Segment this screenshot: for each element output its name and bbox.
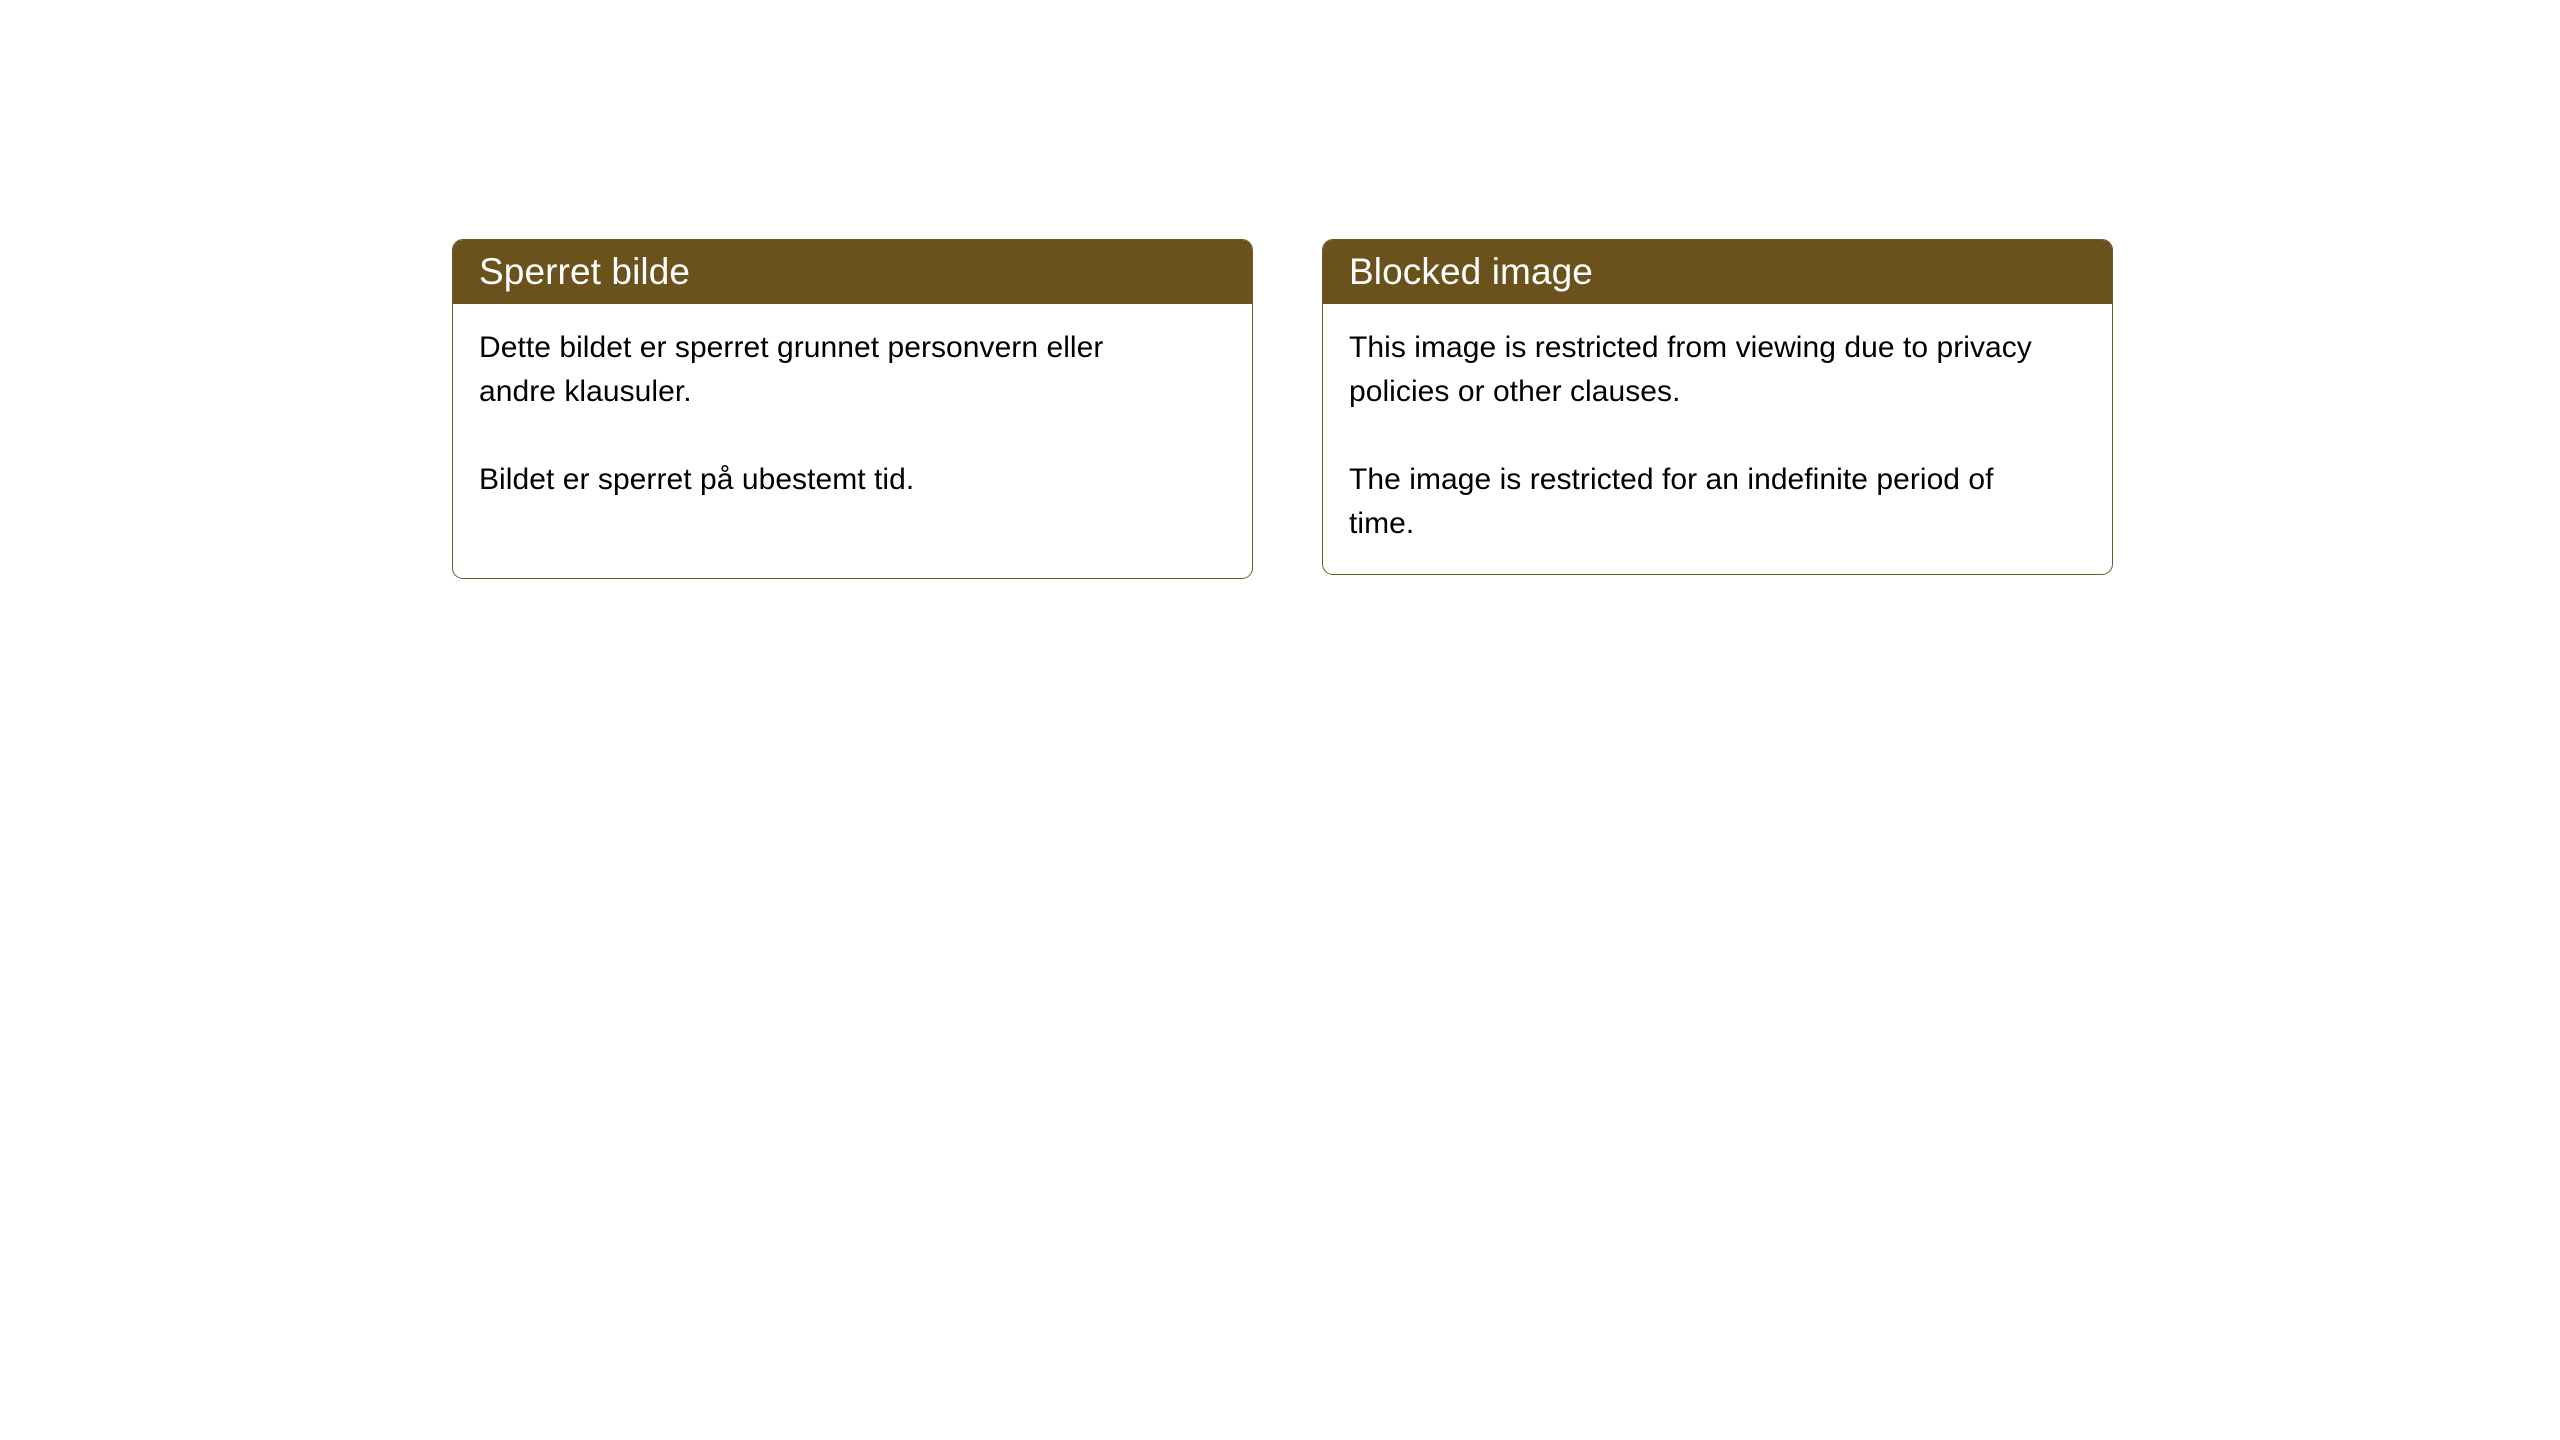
card-title-no: Sperret bilde — [479, 253, 690, 290]
blocked-image-notice-card-en: Blocked image This image is restricted f… — [1322, 239, 2113, 575]
card-paragraph-en-2: The image is restricted for an indefinit… — [1349, 458, 2039, 546]
card-paragraph-no-2: Bildet er sperret på ubestemt tid. — [479, 458, 1179, 502]
page-canvas: Sperret bilde Dette bildet er sperret gr… — [0, 0, 2560, 1440]
blocked-image-notice-card-no: Sperret bilde Dette bildet er sperret gr… — [452, 239, 1253, 579]
card-body-en: This image is restricted from viewing du… — [1323, 304, 2112, 546]
card-header-en: Blocked image — [1323, 240, 2112, 304]
card-paragraph-en-1: This image is restricted from viewing du… — [1349, 326, 2039, 414]
card-paragraph-no-1: Dette bildet er sperret grunnet personve… — [479, 326, 1179, 414]
card-body-no: Dette bildet er sperret grunnet personve… — [453, 304, 1252, 502]
card-header-no: Sperret bilde — [453, 240, 1252, 304]
card-title-en: Blocked image — [1349, 253, 1593, 290]
